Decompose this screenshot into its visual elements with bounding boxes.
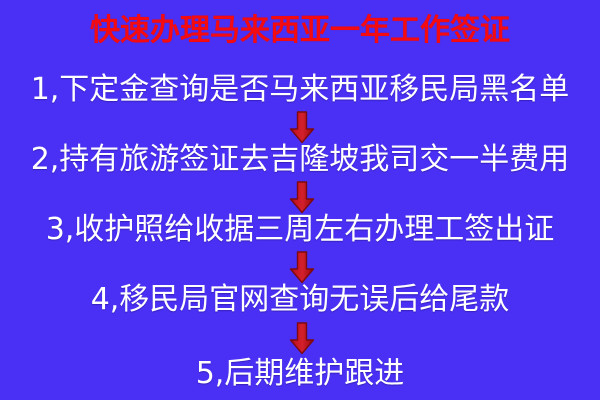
process-step-2: 2,持有旅游签证去吉隆坡我司交一半费用 <box>0 141 600 179</box>
arrow-down-icon <box>289 251 315 284</box>
arrow-down-icon <box>289 111 315 144</box>
process-step-1: 1,下定金查询是否马来西亚移民局黑名单 <box>0 71 600 109</box>
arrow-down-icon <box>289 181 315 214</box>
process-step-5: 5,后期维护跟进 <box>0 355 600 393</box>
visa-process-poster: 快速办理马来西亚一年工作签证 1,下定金查询是否马来西亚移民局黑名单 2,持有旅… <box>0 0 600 400</box>
process-step-3: 3,收护照给收据三周左右办理工签出证 <box>0 211 600 249</box>
process-step-4: 4,移民局官网查询无误后给尾款 <box>0 281 600 319</box>
arrow-down-icon <box>289 322 315 355</box>
page-title: 快速办理马来西亚一年工作签证 <box>0 13 600 49</box>
